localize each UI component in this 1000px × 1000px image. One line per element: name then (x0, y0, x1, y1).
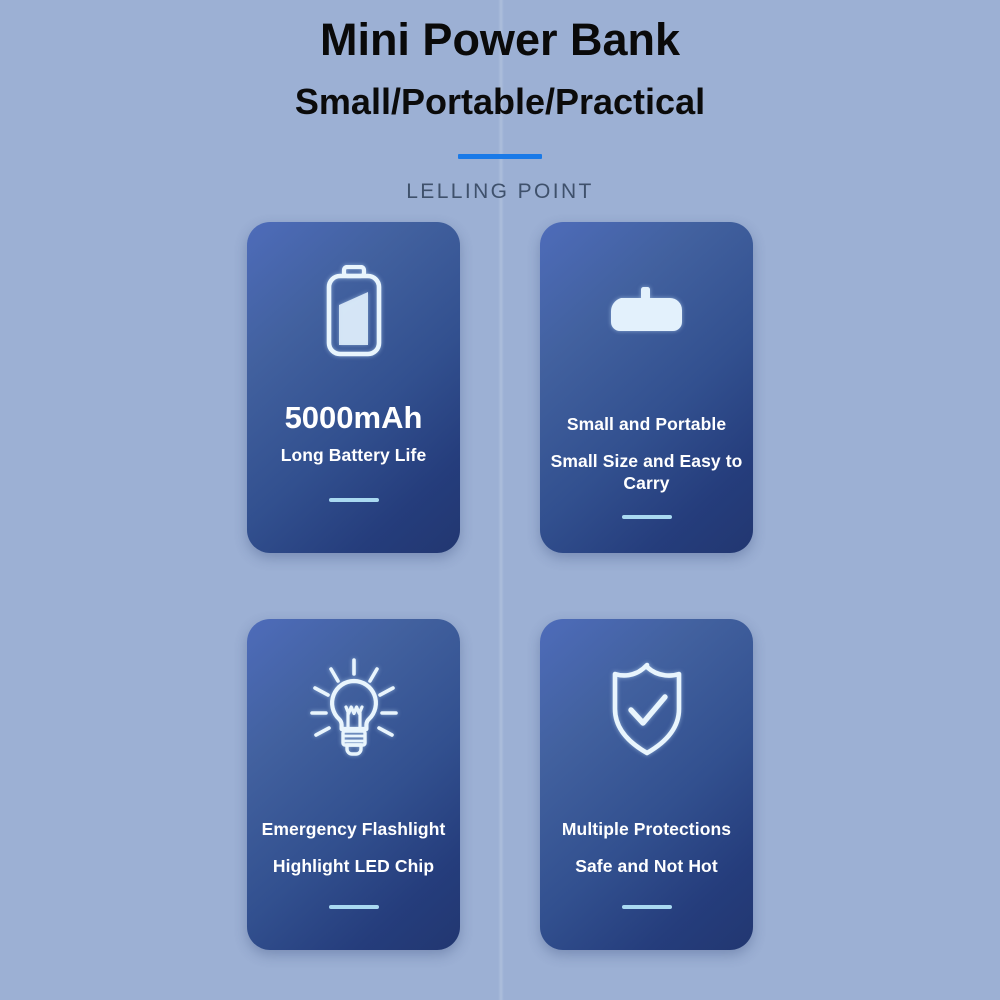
icon-slot (540, 619, 753, 799)
accent-bar (329, 498, 379, 502)
card-line2: Safe and Not Hot (546, 855, 747, 877)
accent-bar (329, 905, 379, 909)
section-eyebrow: LELLING POINT (0, 164, 1000, 204)
feature-card-battery[interactable]: 5000mAh Long Battery Life (247, 222, 460, 553)
divider-wrap (0, 120, 1000, 164)
icon-slot (540, 222, 753, 400)
feature-card-protection[interactable]: Multiple Protections Safe and Not Hot (540, 619, 753, 950)
shield-check-icon (607, 661, 687, 757)
card-line2: Small Size and Easy to Carry (546, 450, 747, 495)
page-title: Mini Power Bank (0, 0, 1000, 62)
card-headline: 5000mAh (253, 402, 454, 435)
header: Mini Power Bank Small/Portable/Practical… (0, 0, 1000, 204)
accent-wrap (540, 905, 753, 909)
feature-card-flashlight[interactable]: Emergency Flashlight Highlight LED Chip (247, 619, 460, 950)
icon-slot (247, 619, 460, 799)
accent-wrap (247, 905, 460, 909)
card-body: 5000mAh Long Battery Life (247, 402, 460, 466)
card-line2: Highlight LED Chip (253, 855, 454, 877)
card-line1: Small and Portable (546, 414, 747, 436)
header-divider (458, 154, 542, 159)
lightbulb-icon (306, 657, 402, 761)
card-line1: Multiple Protections (546, 819, 747, 841)
icon-slot (247, 222, 460, 400)
battery-icon (323, 265, 385, 357)
card-body: Emergency Flashlight Highlight LED Chip (247, 819, 460, 877)
accent-bar (622, 515, 672, 519)
accent-wrap (540, 515, 753, 519)
power-bank-icon (605, 287, 689, 335)
page-subtitle: Small/Portable/Practical (0, 62, 1000, 120)
card-line1: Emergency Flashlight (253, 819, 454, 841)
feature-card-grid: 5000mAh Long Battery Life Small and Port… (247, 222, 753, 950)
feature-card-portable[interactable]: Small and Portable Small Size and Easy t… (540, 222, 753, 553)
card-line2: Long Battery Life (253, 444, 454, 466)
card-body: Multiple Protections Safe and Not Hot (540, 819, 753, 877)
card-body: Small and Portable Small Size and Easy t… (540, 414, 753, 495)
accent-bar (622, 905, 672, 909)
accent-wrap (247, 498, 460, 502)
